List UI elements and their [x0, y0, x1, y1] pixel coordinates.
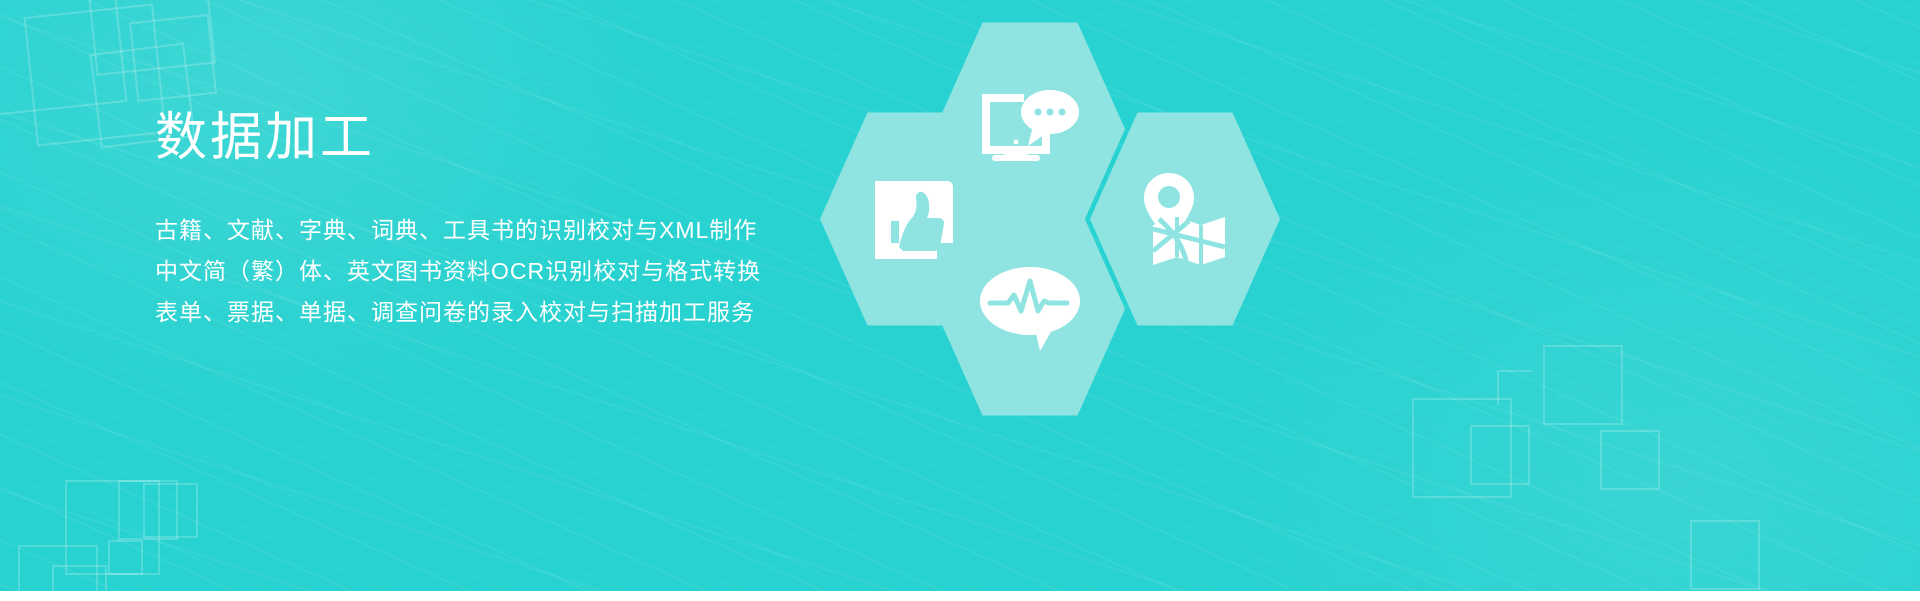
page-title: 数据加工: [155, 112, 761, 164]
monitor-chat-bubble-icon: [978, 84, 1082, 174]
decorative-square: [1543, 345, 1623, 425]
decorative-square: [1497, 370, 1532, 405]
map-pin-location-icon: [1139, 169, 1231, 269]
decorative-square: [1470, 425, 1530, 485]
decorative-square: [84, 0, 216, 76]
decorative-square: [24, 4, 167, 147]
chat-bubble-pulse-icon: [978, 263, 1082, 355]
banner-copy: 数据加工 古籍、文献、字典、词典、工具书的识别校对与XML制作 中文简（繁）体、…: [155, 112, 761, 333]
banner-subline-3: 表单、票据、单据、调查问卷的录入校对与扫描加工服务: [155, 292, 761, 333]
bottom-edge: [0, 591, 1920, 601]
thumbs-up-document-icon: [869, 173, 961, 265]
decorative-square: [118, 480, 178, 540]
service-banner: 数据加工 古籍、文献、字典、词典、工具书的识别校对与XML制作 中文简（繁）体、…: [0, 0, 1920, 601]
decorative-square: [1412, 398, 1512, 498]
decorative-square: [65, 480, 160, 575]
decorative-square: [129, 14, 217, 102]
decorative-square: [108, 540, 143, 575]
decorative-square: [1600, 430, 1660, 490]
hexagon-icon-cluster: [780, 0, 1300, 375]
decorative-square: [143, 483, 198, 538]
decorative-square: [1690, 520, 1760, 590]
decorative-square: [0, 0, 127, 117]
banner-subline-2: 中文简（繁）体、英文图书资料OCR识别校对与格式转换: [155, 251, 761, 292]
banner-subline-1: 古籍、文献、字典、词典、工具书的识别校对与XML制作: [155, 210, 761, 251]
